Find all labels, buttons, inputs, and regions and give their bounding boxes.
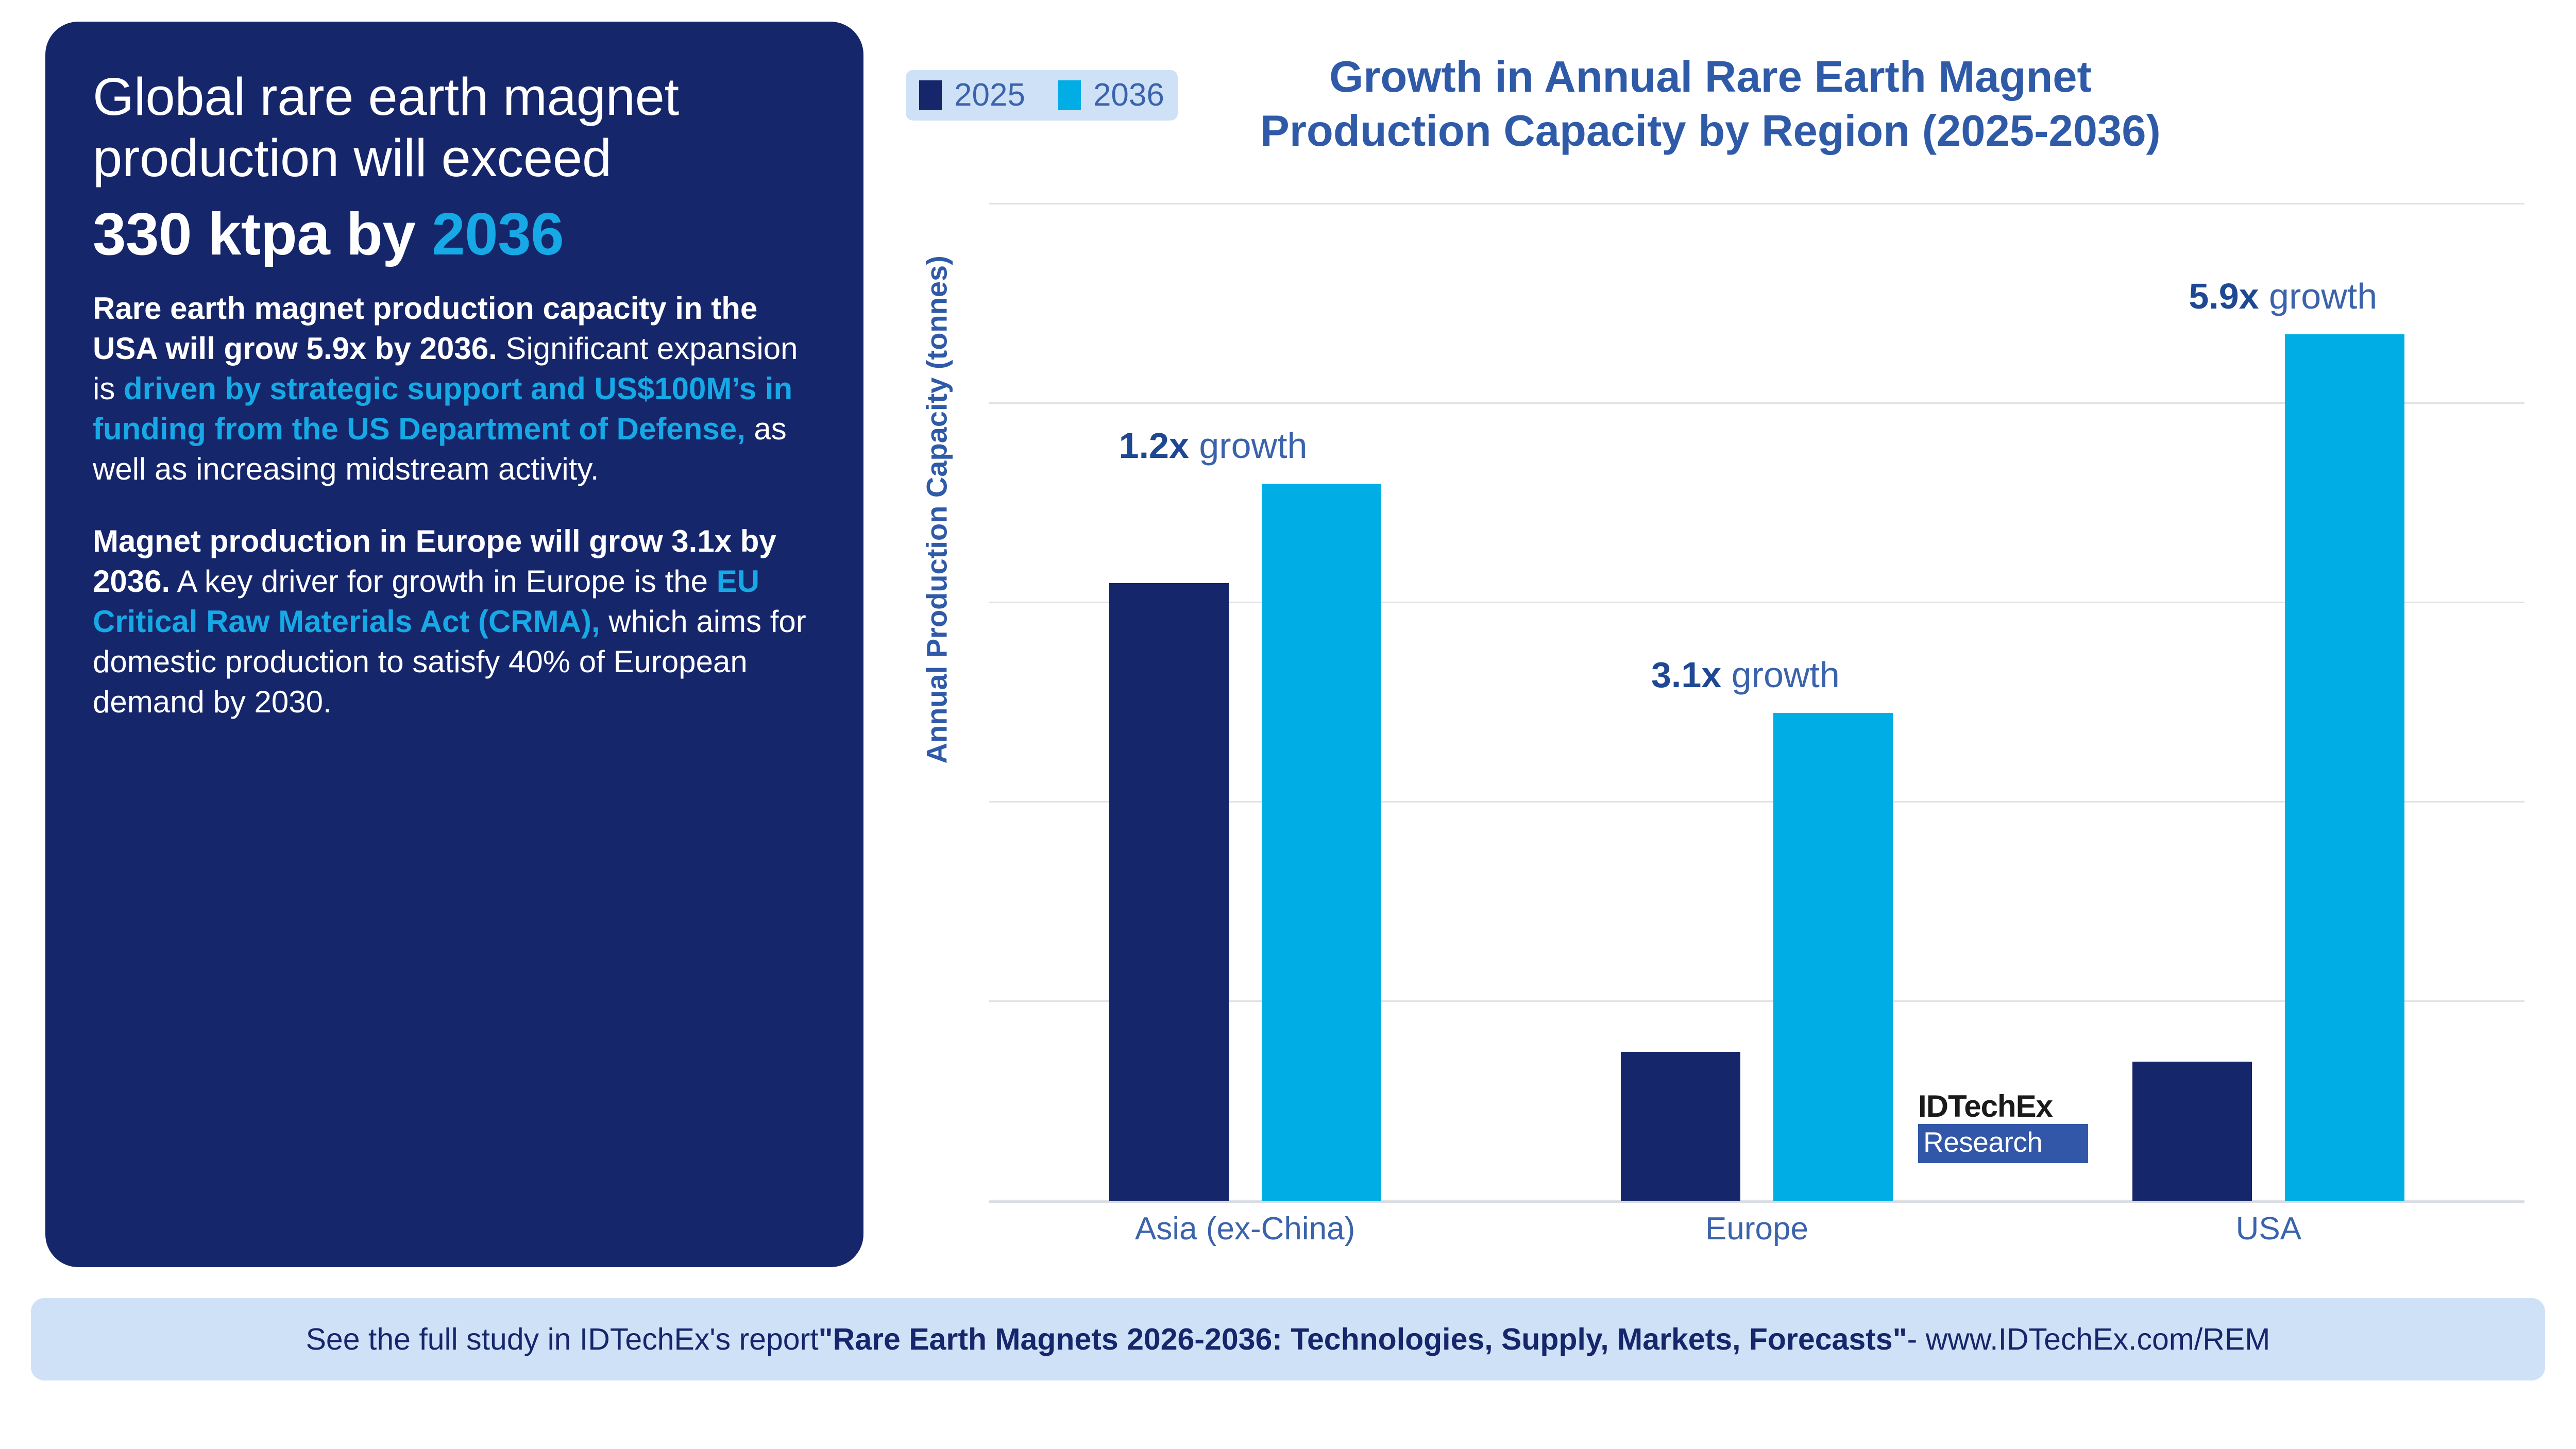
- growth-multiplier: 1.2x: [1119, 425, 1189, 466]
- bar-asia-ex-china-2025: [1109, 583, 1229, 1201]
- bar-europe-2025: [1621, 1052, 1740, 1201]
- footer-bar: See the full study in IDTechEx's report …: [31, 1298, 2545, 1380]
- x-axis-label-europe: Europe: [1501, 1211, 2012, 1247]
- bar-asia-ex-china-2036: [1262, 484, 1381, 1201]
- card-paragraph-usa: Rare earth magnet production capacity in…: [93, 288, 816, 489]
- card-headline: Global rare earth magnet production will…: [93, 66, 816, 189]
- growth-word: growth: [1721, 655, 1840, 695]
- growth-multiplier: 5.9x: [2189, 276, 2259, 316]
- x-axis-label-usa: USA: [2013, 1211, 2524, 1247]
- growth-word: growth: [1189, 425, 1308, 466]
- summary-card: Global rare earth magnet production will…: [45, 22, 863, 1267]
- growth-multiplier: 3.1x: [1651, 655, 1721, 695]
- legend-label-2036: 2036: [1093, 79, 1164, 111]
- growth-annotation: 1.2x growth: [1119, 425, 1308, 466]
- growth-word: growth: [2259, 276, 2378, 316]
- growth-annotation: 5.9x growth: [2189, 276, 2377, 317]
- plot-area: 1.2x growth3.1x growth5.9x growth: [989, 206, 2524, 1203]
- europe-normal-1: A key driver for growth in Europe is the: [170, 564, 717, 599]
- gridline: [989, 203, 2524, 204]
- legend-swatch-2036-icon: [1058, 80, 1081, 110]
- card-big-year: 2036: [432, 200, 564, 267]
- logo-wordmark: IDTechEx: [1918, 1091, 2088, 1122]
- footer-lead-text: See the full study in IDTechEx's report: [306, 1322, 819, 1357]
- chart-container: Growth in Annual Rare Earth Magnet Produ…: [876, 21, 2545, 1272]
- card-big-stat: 330 ktpa by 2036: [93, 202, 816, 266]
- x-axis-labels: Asia (ex-China)EuropeUSA: [989, 1211, 2524, 1247]
- bar-europe-2036: [1773, 713, 1893, 1201]
- y-axis-label: Annual Production Capacity (tonnes): [920, 342, 954, 764]
- chart-legend: 2025 2036: [906, 70, 1178, 121]
- bar-usa-2025: [2132, 1062, 2252, 1201]
- legend-item-2036[interactable]: 2036: [1058, 79, 1164, 111]
- legend-label-2025: 2025: [954, 79, 1025, 111]
- legend-item-2025[interactable]: 2025: [919, 79, 1025, 111]
- bar-usa-2036: [2285, 334, 2404, 1201]
- infographic-root: Global rare earth magnet production will…: [0, 0, 2576, 1449]
- usa-highlight: driven by strategic support and US$100M’…: [93, 371, 792, 446]
- logo-research-badge: Research: [1918, 1124, 2088, 1163]
- idtechex-logo: IDTechEx Research: [1918, 1091, 2088, 1163]
- growth-annotation: 3.1x growth: [1651, 654, 1840, 695]
- card-big-value: 330 ktpa by: [93, 200, 415, 267]
- card-paragraph-europe: Magnet production in Europe will grow 3.…: [93, 521, 816, 722]
- footer-url[interactable]: - www.IDTechEx.com/REM: [1907, 1322, 2270, 1357]
- legend-swatch-2025-icon: [919, 80, 942, 110]
- footer-report-title: "Rare Earth Magnets 2026-2036: Technolog…: [819, 1322, 1907, 1357]
- x-axis-label-asia-ex-china: Asia (ex-China): [989, 1211, 1501, 1247]
